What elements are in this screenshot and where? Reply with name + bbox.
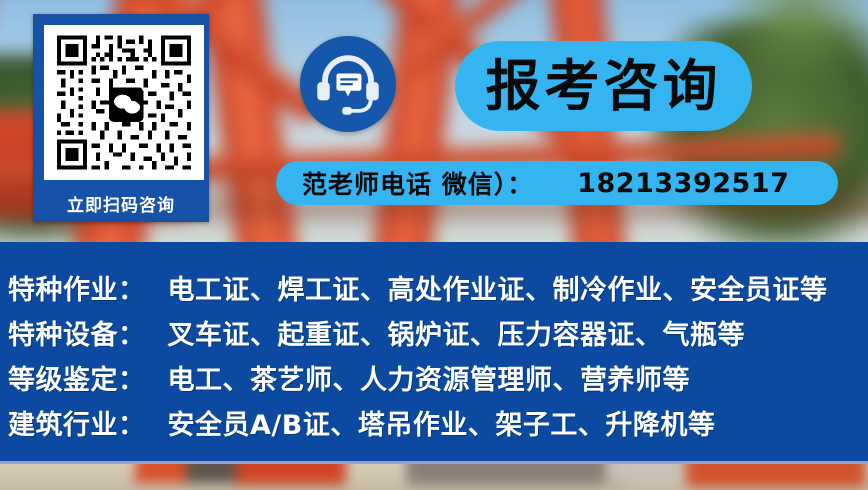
list-item: 特种作业： 电工证、焊工证、高处作业证、制冷作业、安全员证等	[8, 267, 860, 307]
poster-root: 立即扫码咨询 报考咨询 范老师电话 微信）： 18213392517	[0, 0, 868, 490]
row-value: 电工、茶艺师、人力资源管理师、营养师等	[168, 358, 691, 397]
bottom-divider-line	[0, 461, 868, 464]
phone-number: 18213392517	[577, 168, 789, 199]
row-value: 安全员A/B证、塔吊作业、架子工、升降机等	[168, 403, 716, 442]
list-item: 特种设备： 叉车证、起重证、锅炉证、压力容器证、气瓶等	[8, 312, 860, 352]
bottom-shape-orange-2	[236, 461, 346, 485]
row-label: 特种设备：	[8, 313, 146, 352]
bottom-shape-dark-2	[406, 461, 626, 485]
headset-glyph	[300, 36, 396, 132]
qr-card[interactable]: 立即扫码咨询	[33, 14, 209, 222]
qr-code-frame	[44, 25, 204, 180]
title-pill[interactable]: 报考咨询	[455, 41, 752, 131]
row-label: 等级鉴定：	[8, 358, 146, 397]
category-list-section: 特种作业： 电工证、焊工证、高处作业证、制冷作业、安全员证等 特种设备： 叉车证…	[0, 242, 868, 461]
row-label: 建筑行业：	[8, 403, 146, 442]
row-value: 电工证、焊工证、高处作业证、制冷作业、安全员证等	[168, 268, 828, 307]
bottom-photo-strip	[0, 461, 868, 490]
list-item: 建筑行业： 安全员A/B证、塔吊作业、架子工、升降机等	[8, 402, 860, 442]
row-value: 叉车证、起重证、锅炉证、压力容器证、气瓶等	[168, 313, 746, 352]
bottom-photo-blur	[0, 461, 868, 490]
phone-pill[interactable]: 范老师电话 微信）： 18213392517	[276, 161, 838, 205]
hero-banner: 立即扫码咨询 报考咨询 范老师电话 微信）： 18213392517	[0, 0, 868, 242]
bottom-shape-orange-3	[686, 461, 866, 487]
phone-label: 范老师电话 微信）：	[302, 165, 533, 201]
row-label: 特种作业：	[8, 268, 146, 307]
headset-support-icon	[300, 36, 396, 132]
qr-caption-label: 立即扫码咨询	[36, 191, 206, 216]
list-item: 等级鉴定： 电工、茶艺师、人力资源管理师、营养师等	[8, 357, 860, 397]
qr-code-icon	[50, 31, 198, 174]
title-pill-label: 报考咨询	[485, 59, 721, 114]
